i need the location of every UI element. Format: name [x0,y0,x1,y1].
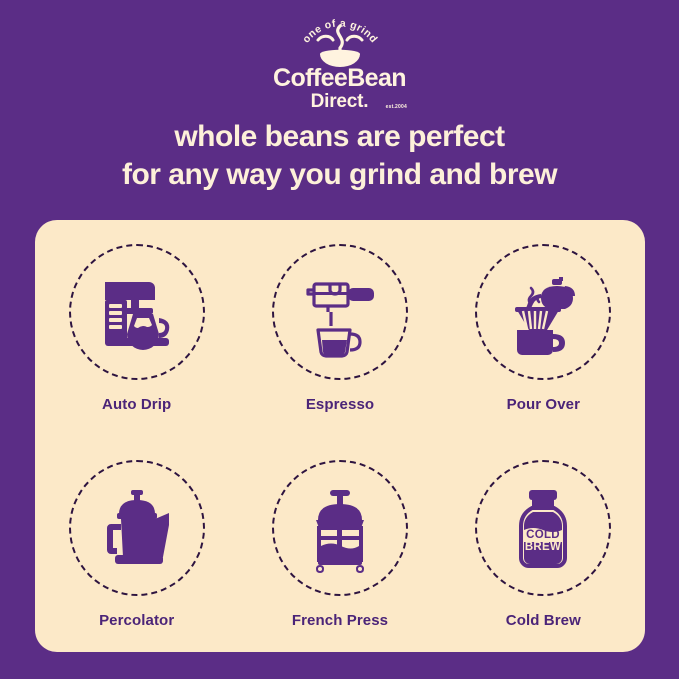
headline-line-2: for any way you grind and brew [0,156,679,194]
page-headline: whole beans are perfect for any way you … [0,118,679,195]
brew-method-cold-brew[interactable]: COLD BREW Cold Brew [442,436,645,652]
brew-method-pour-over[interactable]: Pour Over [442,220,645,436]
percolator-pot-icon [89,480,185,576]
french-press-icon [292,480,388,576]
brew-method-label: Cold Brew [506,612,581,629]
svg-text:one of a grind: one of a grind [300,17,380,45]
brew-method-label: Pour Over [507,396,580,413]
brand-name-line1: CoffeeBean [273,66,406,91]
cold-brew-label-line1: COLD [526,529,560,541]
coffee-cup-with-steam-icon: one of a grind [280,6,400,68]
brew-method-label: Espresso [306,396,374,413]
icon-disc [272,460,408,596]
brew-method-espresso[interactable]: Espresso [238,220,441,436]
brew-methods-card: Auto Drip [35,220,645,652]
cold-brew-bottle-icon: COLD BREW [495,480,591,576]
icon-disc [69,460,205,596]
brew-method-percolator[interactable]: Percolator [35,436,238,652]
icon-disc [475,244,611,380]
headline-line-1: whole beans are perfect [0,118,679,156]
brew-method-auto-drip[interactable]: Auto Drip [35,220,238,436]
icon-disc [272,244,408,380]
espresso-portafilter-icon [292,264,388,360]
cold-brew-label-line2: BREW [525,541,561,553]
brew-method-label: Percolator [99,612,174,629]
brew-method-label: Auto Drip [102,396,171,413]
brew-methods-grid: Auto Drip [35,220,645,652]
logo-arc-tagline: one of a grind [300,17,380,45]
brand-wordmark: CoffeeBean Direct. est.2004 [273,66,406,112]
icon-disc: COLD BREW [475,460,611,596]
brew-method-label: French Press [292,612,388,629]
brew-method-french-press[interactable]: French Press [238,436,441,652]
brand-established: est.2004 [386,104,407,110]
drip-coffee-maker-icon [89,264,185,360]
icon-disc [69,244,205,380]
brand-logo: one of a grind CoffeeBean Direct. est.20… [0,6,679,106]
pour-over-kettle-icon [495,264,591,360]
